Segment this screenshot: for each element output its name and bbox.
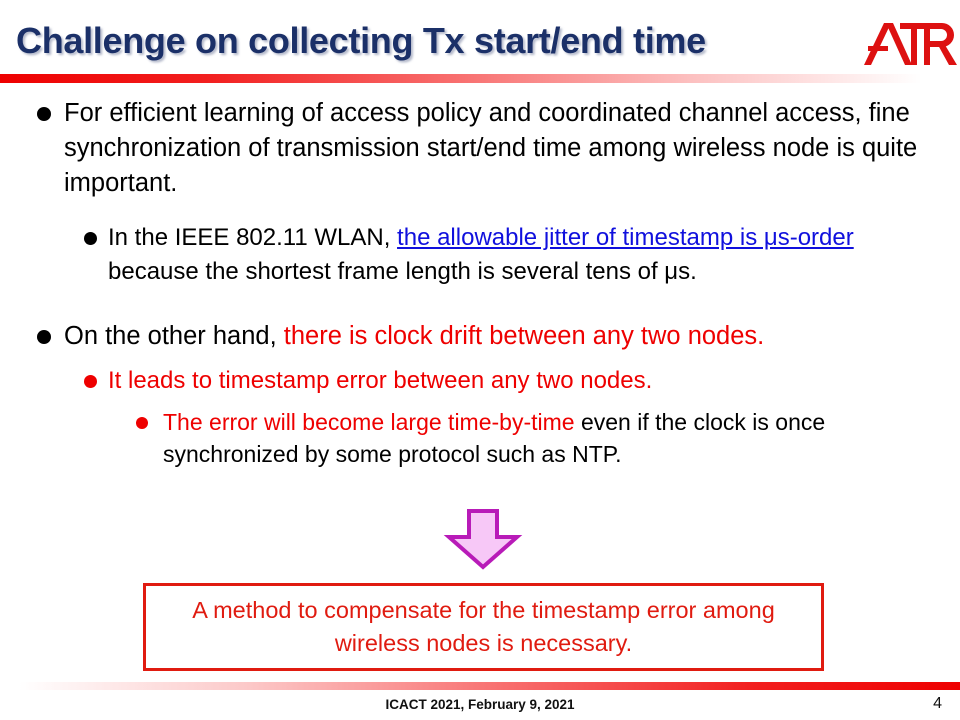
bullet-marker-red bbox=[84, 375, 97, 388]
jitter-link[interactable]: the allowable jitter of timestamp is μs-… bbox=[397, 224, 854, 251]
bullet-level1-second: On the other hand, there is clock drift … bbox=[64, 319, 942, 354]
spacer bbox=[0, 201, 960, 221]
spacer bbox=[0, 289, 960, 319]
footer-conference: ICACT 2021, February 9, 2021 bbox=[0, 697, 960, 712]
bullet-level1-first: For efficient learning of access policy … bbox=[64, 96, 942, 201]
spacer bbox=[0, 398, 960, 406]
bullet2-sub2-emphasis: The error will become large time-by-time bbox=[163, 409, 575, 435]
slide-body: For efficient learning of access policy … bbox=[0, 96, 960, 470]
page-number: 4 bbox=[933, 695, 942, 713]
conclusion-text: A method to compensate for the timestamp… bbox=[146, 594, 821, 660]
slide-canvas: Challenge on collecting Tx start/end tim… bbox=[0, 0, 960, 720]
bullet-level2-timestamp-error: It leads to timestamp error between any … bbox=[108, 364, 950, 398]
bullet1-sub1-lead: In the IEEE 802.11 WLAN, bbox=[108, 224, 397, 251]
conclusion-box: A method to compensate for the timestamp… bbox=[143, 583, 824, 671]
bullet2-emphasis: there is clock drift between any two nod… bbox=[284, 322, 765, 350]
slide-header: Challenge on collecting Tx start/end tim… bbox=[0, 0, 960, 80]
footer-divider bbox=[0, 682, 960, 690]
atr-logo-icon bbox=[862, 18, 958, 70]
bullet-level2-ieee: In the IEEE 802.11 WLAN, the allowable j… bbox=[108, 221, 950, 289]
bullet-marker-red bbox=[136, 417, 148, 429]
bullet-marker-black bbox=[84, 232, 97, 245]
bullet-marker-black bbox=[37, 107, 51, 121]
bullet1-text: For efficient learning of access policy … bbox=[64, 99, 917, 197]
page-title: Challenge on collecting Tx start/end tim… bbox=[16, 20, 876, 62]
bullet1-sub1-tail: because the shortest frame length is sev… bbox=[108, 258, 697, 285]
bullet2-lead: On the other hand, bbox=[64, 322, 284, 350]
bullet-marker-black bbox=[37, 330, 51, 344]
title-divider bbox=[0, 74, 960, 83]
bullet2-sub1-text: It leads to timestamp error between any … bbox=[108, 367, 652, 394]
bullet-level3-error-growth: The error will become large time-by-time… bbox=[163, 406, 940, 470]
down-arrow-icon bbox=[443, 508, 523, 570]
spacer bbox=[0, 354, 960, 364]
